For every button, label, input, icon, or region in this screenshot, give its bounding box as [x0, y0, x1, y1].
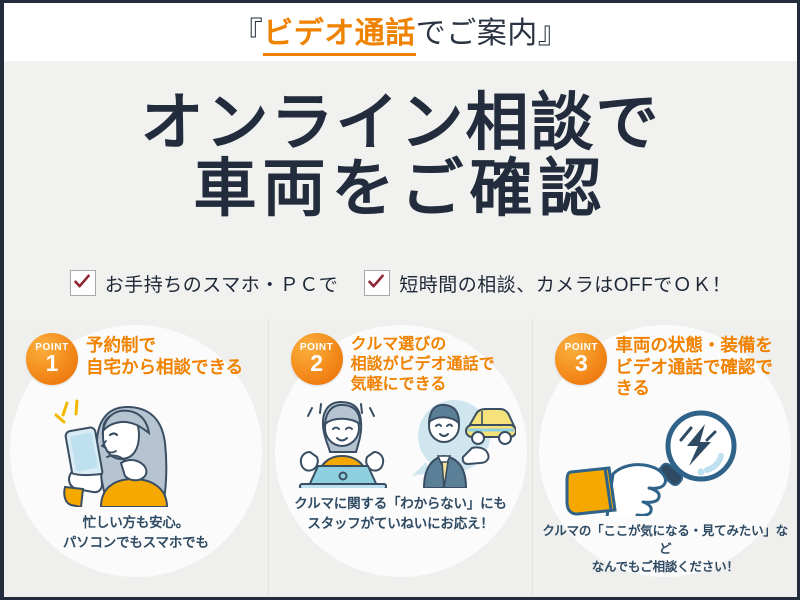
point-badge-number: 2	[310, 352, 323, 375]
point-badge-2: POINT 2	[291, 333, 343, 385]
point-header-3: POINT 3 車両の状態・装備を ビデオ通話で確認できる	[541, 333, 789, 400]
promo-banner: 『ビデオ通話でご案内』 オンライン相談で 車両をご確認 お手持ちのスマホ・ＰＣで…	[0, 0, 800, 600]
point-caption-3: クルマの「ここが気になる・見てみたい」など なんでもご相談ください！	[541, 522, 789, 576]
point-badge-1: POINT 1	[26, 333, 78, 385]
header-bracket-close: 』	[538, 8, 569, 52]
woman-with-smartphone-illustration	[12, 391, 260, 507]
header-bracket-open: 『	[233, 8, 264, 52]
hero-section: オンライン相談で 車両をご確認	[4, 61, 797, 251]
point-title-line: 相談がビデオ通話で	[351, 355, 495, 375]
checklist-row: お手持ちのスマホ・ＰＣで 短時間の相談、カメラはOFFでＯＫ！	[4, 255, 797, 311]
point-badge-number: 3	[575, 352, 588, 375]
point-panel-1: POINT 1 予約制で 自宅から相談できる	[4, 319, 268, 597]
hero-line-1: オンライン相談で	[141, 90, 661, 156]
header-plain-text: でご案内	[416, 8, 538, 52]
point-caption-2: クルマに関する「わからない」にも スタッフがていねいにお応え！	[277, 494, 525, 533]
point-caption-line: クルマに関する「わからない」にも	[277, 494, 525, 514]
point-panel-3: POINT 3 車両の状態・装備を ビデオ通話で確認できる	[532, 319, 797, 597]
point-title-line: 気軽にできる	[351, 375, 495, 395]
header-title: 『ビデオ通話でご案内』	[233, 8, 569, 56]
point-title-line: 予約制で	[86, 335, 243, 357]
point-title-line: 車両の状態・装備を	[615, 335, 789, 357]
point-header-1: POINT 1 予約制で 自宅から相談できる	[12, 333, 260, 385]
checklist-item: お手持ちのスマホ・ＰＣで	[70, 270, 338, 297]
point-caption-line: スタッフがていねいにお応え！	[277, 514, 525, 534]
point-caption-line: パソコンでもスマホでも	[12, 533, 260, 553]
point-title-line: クルマ選びの	[351, 335, 495, 355]
point-title-1: 予約制で 自宅から相談できる	[86, 333, 243, 378]
point-caption-line: 忙しい方も安心。	[12, 513, 260, 533]
point-title-line: 自宅から相談できる	[86, 357, 243, 379]
banner-header: 『ビデオ通話でご案内』	[4, 3, 797, 61]
checklist-label: 短時間の相談、カメラはOFFでＯＫ！	[399, 270, 731, 297]
point-caption-1: 忙しい方も安心。 パソコンでもスマホでも	[12, 513, 260, 552]
point-header-2: POINT 2 クルマ選びの 相談がビデオ通話で 気軽にできる	[277, 333, 525, 394]
points-section: POINT 1 予約制で 自宅から相談できる	[4, 319, 797, 597]
point-title-line: ビデオ通話で確認できる	[615, 357, 789, 400]
point-badge-number: 1	[46, 352, 59, 375]
woman-laptop-and-staff-with-car-illustration	[277, 396, 525, 488]
hero-line-2: 車両をご確認	[194, 156, 608, 222]
check-icon	[70, 270, 96, 296]
checklist-item: 短時間の相談、カメラはOFFでＯＫ！	[364, 270, 731, 297]
point-title-3: 車両の状態・装備を ビデオ通話で確認できる	[615, 333, 789, 400]
check-icon	[364, 270, 390, 296]
point-caption-line: なんでもご相談ください！	[541, 558, 789, 576]
point-title-2: クルマ選びの 相談がビデオ通話で 気軽にできる	[351, 333, 495, 394]
hand-holding-magnifier-illustration	[541, 410, 789, 516]
point-caption-line: クルマの「ここが気になる・見てみたい」など	[541, 522, 789, 558]
header-highlight-text: ビデオ通話	[263, 8, 416, 56]
checklist-label: お手持ちのスマホ・ＰＣで	[105, 270, 338, 297]
point-panel-2: POINT 2 クルマ選びの 相談がビデオ通話で 気軽にできる	[268, 319, 533, 597]
point-badge-3: POINT 3	[555, 333, 607, 385]
